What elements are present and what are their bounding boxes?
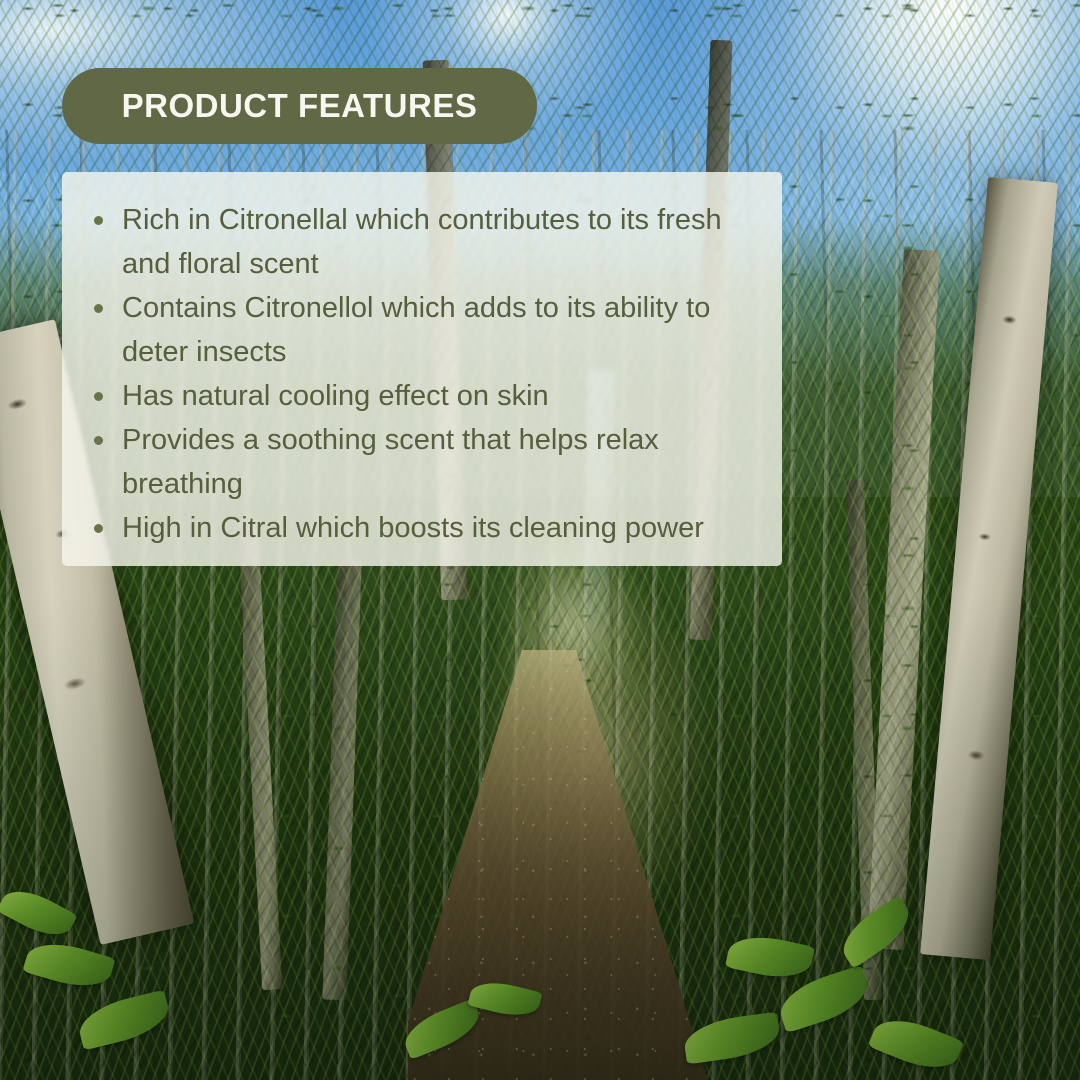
- feature-text: Provides a soothing scent that helps rel…: [122, 424, 659, 500]
- bullet-icon: [94, 436, 103, 445]
- product-features-badge: PRODUCT FEATURES: [62, 68, 537, 144]
- feature-list-item: Contains Citronellol which adds to its a…: [86, 286, 758, 374]
- bullet-icon: [94, 392, 103, 401]
- feature-text: Has natural cooling effect on skin: [122, 380, 549, 412]
- feature-text: Rich in Citronellal which contributes to…: [122, 204, 722, 280]
- infographic-canvas: PRODUCT FEATURES Rich in Citronellal whi…: [0, 0, 1080, 1080]
- bullet-icon: [94, 524, 103, 533]
- feature-list-item: High in Citral which boosts its cleaning…: [86, 506, 758, 550]
- feature-text: Contains Citronellol which adds to its a…: [122, 292, 710, 368]
- feature-list-item: Provides a soothing scent that helps rel…: [86, 418, 758, 506]
- feature-list-item: Has natural cooling effect on skin: [86, 374, 758, 418]
- bullet-icon: [94, 216, 103, 225]
- feature-text: High in Citral which boosts its cleaning…: [122, 512, 704, 544]
- page-title: PRODUCT FEATURES: [122, 87, 478, 125]
- feature-list: Rich in Citronellal which contributes to…: [86, 198, 758, 550]
- feature-list-item: Rich in Citronellal which contributes to…: [86, 198, 758, 286]
- bullet-icon: [94, 304, 103, 313]
- features-card: Rich in Citronellal which contributes to…: [62, 172, 782, 566]
